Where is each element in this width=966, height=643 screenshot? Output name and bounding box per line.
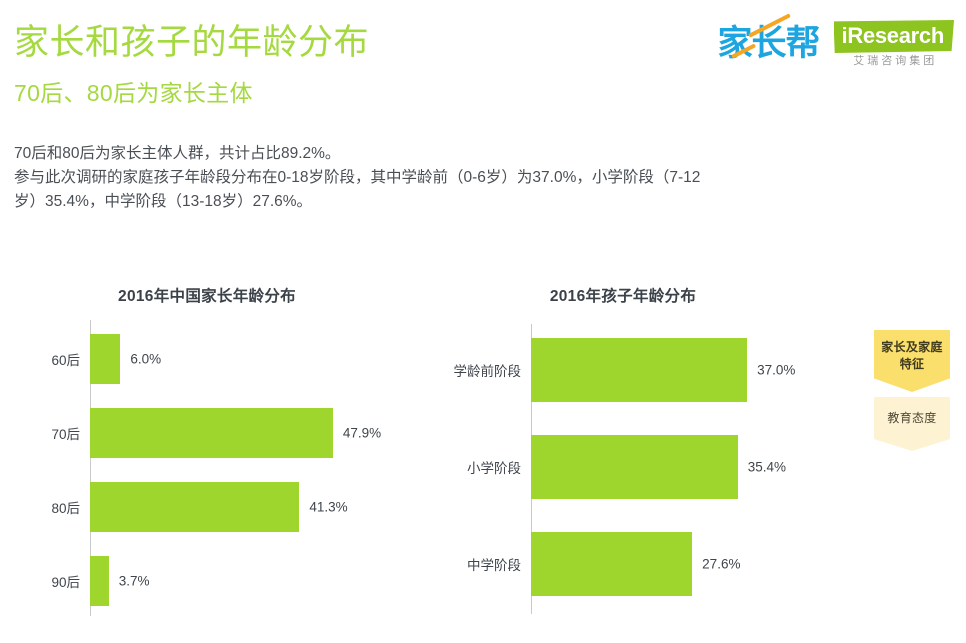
section-tab-label: 教育态度: [887, 411, 936, 425]
chart-category-label: 小学阶段: [430, 457, 521, 477]
chart-bar: [90, 556, 109, 606]
chart-bar: [531, 338, 747, 402]
section-tab-education-attitude[interactable]: 教育态度: [874, 397, 950, 451]
chart-bar-row: 学龄前阶段37.0%: [430, 338, 860, 402]
summary-line-3: 岁）35.4%，中学阶段（13-18岁）27.6%。: [14, 190, 944, 214]
chart-children-plot-area: 学龄前阶段37.0%小学阶段35.4%中学阶段27.6%: [430, 320, 860, 632]
chart-category-label: 学龄前阶段: [430, 360, 521, 380]
page-header: 家长和孩子的年龄分布 70后、80后为家长主体 家长帮 iResearch 艾瑞…: [0, 0, 966, 120]
chart-value-label: 3.7%: [119, 574, 150, 589]
summary-paragraph: 70后和80后为家长主体人群，共计占比89.2%。 参与此次调研的家庭孩子年龄段…: [14, 142, 944, 214]
section-tab-label: 家长及家庭特征: [881, 340, 943, 371]
chart-category-label: 90后: [20, 571, 80, 591]
summary-line-2: 参与此次调研的家庭孩子年龄段分布在0-18岁阶段，其中学龄前（0-6岁）为37.…: [14, 166, 944, 190]
chart-bar-row: 60后6.0%: [20, 334, 440, 384]
chart-bar-row: 中学阶段27.6%: [430, 532, 860, 596]
chart-bar: [531, 532, 692, 596]
chart-children-age-distribution: 2016年孩子年龄分布 学龄前阶段37.0%小学阶段35.4%中学阶段27.6%: [430, 272, 860, 632]
chart-bar: [90, 408, 333, 458]
chart-category-label: 中学阶段: [430, 554, 521, 574]
chart-bar-row: 小学阶段35.4%: [430, 435, 860, 499]
chart-parents-title: 2016年中国家长年龄分布: [42, 284, 372, 306]
chart-bar: [90, 482, 299, 532]
chart-category-label: 70后: [20, 423, 80, 443]
chart-bar: [531, 435, 738, 499]
jiazhangbang-logo: 家长帮: [718, 24, 820, 64]
chart-bar-row: 70后47.9%: [20, 408, 440, 458]
chart-parents-plot-area: 60后6.0%70后47.9%80后41.3%90后3.7%: [20, 320, 440, 632]
page-subtitle: 70后、80后为家长主体: [14, 78, 253, 108]
chart-value-label: 41.3%: [309, 500, 347, 515]
logo-group: 家长帮 iResearch 艾瑞咨询集团: [718, 16, 955, 72]
chart-category-label: 80后: [20, 497, 80, 517]
chart-value-label: 35.4%: [748, 460, 786, 475]
page-title: 家长和孩子的年龄分布: [14, 21, 369, 65]
section-tabs: 家长及家庭特征 教育态度: [874, 330, 950, 451]
chart-value-label: 6.0%: [130, 352, 161, 367]
chart-children-title: 2016年孩子年龄分布: [458, 284, 788, 306]
chart-value-label: 27.6%: [702, 557, 740, 572]
iresearch-subtitle-text: 艾瑞咨询集团: [850, 54, 937, 68]
chart-parents-age-distribution: 2016年中国家长年龄分布 60后6.0%70后47.9%80后41.3%90后…: [20, 272, 440, 632]
section-tab-parents-family-traits[interactable]: 家长及家庭特征: [874, 330, 950, 392]
iresearch-badge-text: iResearch: [834, 20, 954, 53]
chart-value-label: 47.9%: [343, 426, 381, 441]
iresearch-logo: iResearch 艾瑞咨询集团: [834, 20, 954, 68]
chart-bar-row: 90后3.7%: [20, 556, 440, 606]
chart-category-label: 60后: [20, 349, 80, 369]
chart-value-label: 37.0%: [757, 363, 795, 378]
summary-line-1: 70后和80后为家长主体人群，共计占比89.2%。: [14, 142, 944, 166]
chart-bar: [90, 334, 120, 384]
chart-bar-row: 80后41.3%: [20, 482, 440, 532]
